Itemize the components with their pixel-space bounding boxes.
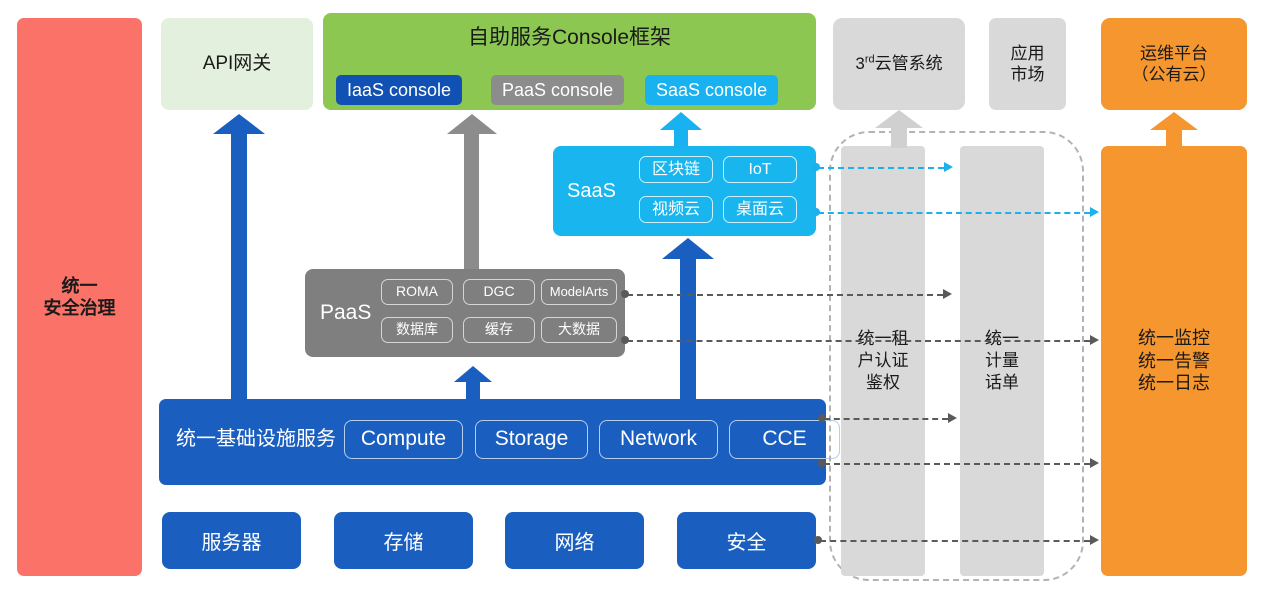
saas-chip-desktop-cloud[interactable]: 桌面云 xyxy=(723,196,797,223)
console-framework-title: 自助服务Console框架 xyxy=(323,25,816,51)
console-framework-box: 自助服务Console框架 IaaS console PaaS console … xyxy=(323,13,816,110)
infrastructure-service-bar: 统一基础设施服务 Compute Storage Network CCE xyxy=(159,399,826,485)
resource-box-storage: 存储 xyxy=(334,512,473,569)
third-party-cloud-mgmt-label: 3rd云管系统 xyxy=(855,53,942,74)
security-governance-label: 统一 安全治理 xyxy=(44,275,116,320)
infra-chip-compute[interactable]: Compute xyxy=(344,420,463,459)
infra-chip-cce[interactable]: CCE xyxy=(729,420,840,459)
paas-chip-dgc[interactable]: DGC xyxy=(463,279,535,305)
paas-chip-bigdata[interactable]: 大数据 xyxy=(541,317,617,343)
resource-box-network: 网络 xyxy=(505,512,644,569)
api-gateway-label: API网关 xyxy=(203,52,272,76)
shared-service-billing-label: 统一 计量 话单 xyxy=(985,328,1019,394)
app-market-label: 应用 市场 xyxy=(1011,43,1045,86)
shared-service-auth-label: 统一租 户认证 鉴权 xyxy=(858,328,909,394)
unified-monitoring-label: 统一监控 统一告警 统一日志 xyxy=(1138,327,1210,395)
ops-platform-box: 运维平台 （公有云） xyxy=(1101,18,1247,110)
iaas-console-chip[interactable]: IaaS console xyxy=(336,75,462,105)
infrastructure-service-label: 统一基础设施服务 xyxy=(176,427,336,452)
saas-layer-box: SaaS 区块链 IoT 视频云 桌面云 xyxy=(553,146,816,236)
architecture-diagram: 统一 安全治理 API网关 自助服务Console框架 IaaS console… xyxy=(0,0,1265,605)
saas-chip-video-cloud[interactable]: 视频云 xyxy=(639,196,713,223)
paas-layer-box: PaaS ROMA DGC ModelArts 数据库 缓存 大数据 xyxy=(305,269,625,357)
paas-console-chip[interactable]: PaaS console xyxy=(491,75,624,105)
paas-layer-label: PaaS xyxy=(320,300,371,326)
saas-chip-blockchain[interactable]: 区块链 xyxy=(639,156,713,183)
unified-monitoring-panel: 统一监控 统一告警 统一日志 xyxy=(1101,146,1247,576)
paas-chip-database[interactable]: 数据库 xyxy=(381,317,453,343)
security-governance-panel: 统一 安全治理 xyxy=(17,18,142,576)
infra-chip-storage[interactable]: Storage xyxy=(475,420,588,459)
third-party-cloud-mgmt-box: 3rd云管系统 xyxy=(833,18,965,110)
api-gateway-box: API网关 xyxy=(161,18,313,110)
saas-console-chip[interactable]: SaaS console xyxy=(645,75,778,105)
resource-box-security: 安全 xyxy=(677,512,816,569)
saas-chip-iot[interactable]: IoT xyxy=(723,156,797,183)
ops-platform-label: 运维平台 （公有云） xyxy=(1132,43,1217,86)
infra-chip-network[interactable]: Network xyxy=(599,420,718,459)
paas-chip-modelarts[interactable]: ModelArts xyxy=(541,279,617,305)
shared-service-auth: 统一租 户认证 鉴权 xyxy=(841,146,925,576)
shared-service-billing: 统一 计量 话单 xyxy=(960,146,1044,576)
paas-chip-cache[interactable]: 缓存 xyxy=(463,317,535,343)
resource-box-server: 服务器 xyxy=(162,512,301,569)
saas-layer-label: SaaS xyxy=(567,179,616,204)
app-market-box: 应用 市场 xyxy=(989,18,1066,110)
paas-chip-roma[interactable]: ROMA xyxy=(381,279,453,305)
